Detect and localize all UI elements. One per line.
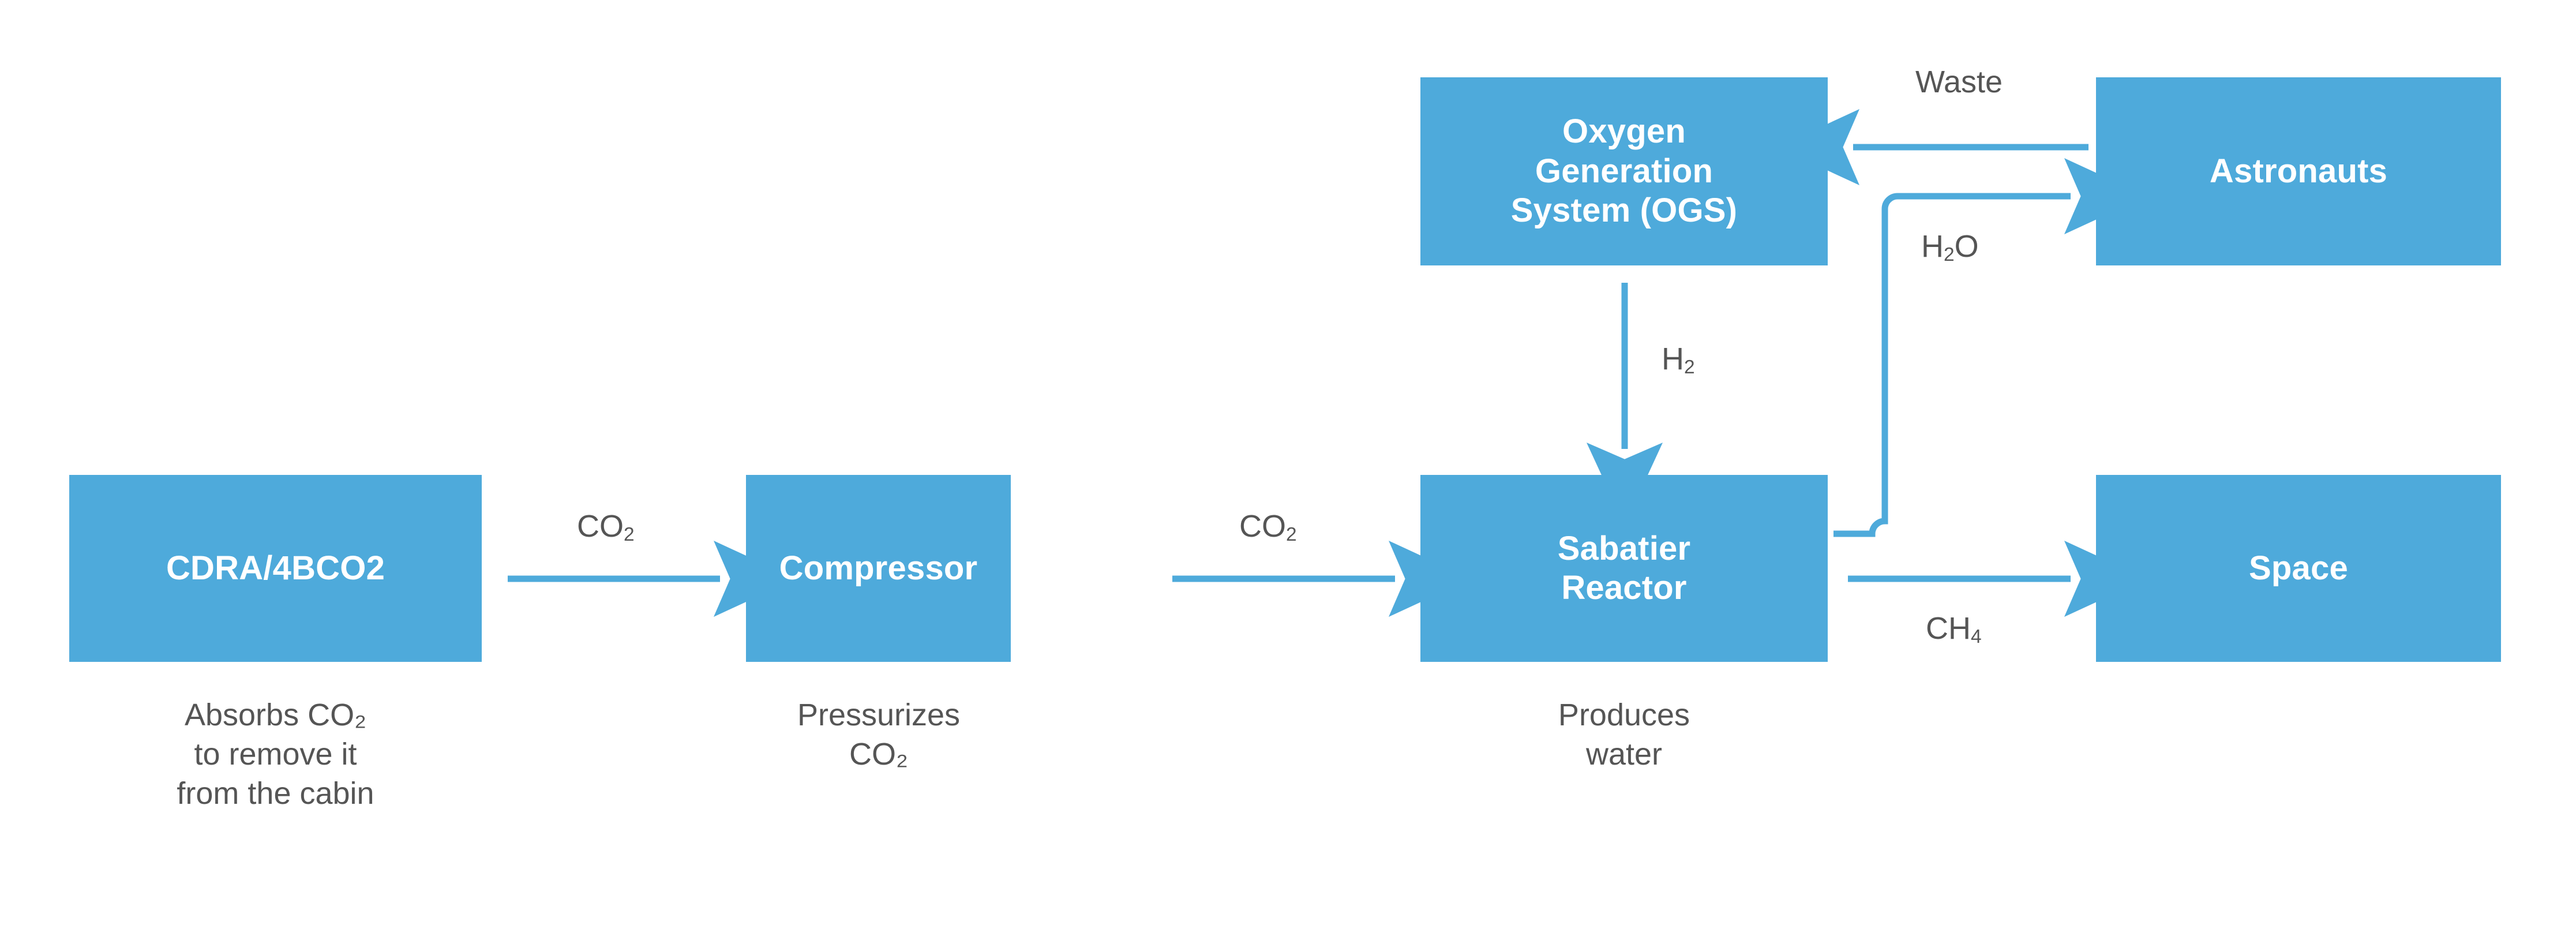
- node-compressor-label: Compressor: [779, 549, 978, 588]
- edge-label-h2o-sub: 2: [1944, 244, 1955, 265]
- node-compressor[interactable]: Compressor: [746, 475, 1011, 662]
- caption-sabatier-reactor: Produces water: [1425, 695, 1823, 774]
- edge-label-waste: Waste: [1915, 66, 2003, 98]
- node-cdra-label: CDRA/4BCO2: [166, 549, 385, 588]
- node-sabatier-reactor[interactable]: Sabatier Reactor: [1420, 475, 1828, 662]
- edge-label-h2o: H2O: [1921, 231, 1979, 262]
- node-astronauts[interactable]: Astronauts: [2096, 77, 2501, 265]
- edge-label-h2o-text: H: [1921, 229, 1944, 264]
- node-ogs-label: Oxygen Generation System (OGS): [1511, 112, 1737, 230]
- node-astronauts-label: Astronauts: [2210, 152, 2387, 191]
- edge-label-h2: H2: [1662, 343, 1695, 375]
- node-sabatier-label-line2: Reactor: [1561, 569, 1686, 606]
- node-cdra[interactable]: CDRA/4BCO2: [69, 475, 482, 662]
- edge-label-ch4-text: CH: [1926, 611, 1971, 646]
- node-ogs-label-line1: Oxygen: [1562, 113, 1686, 150]
- edge-label-h2o-tail: O: [1955, 229, 1979, 264]
- edge-label-co2-second-text: CO: [1239, 509, 1286, 544]
- node-sabatier-label: Sabatier Reactor: [1558, 529, 1691, 608]
- node-space-label: Space: [2249, 549, 2348, 588]
- edge-label-co2-second: CO2: [1239, 511, 1297, 542]
- caption-compressor: Pressurizes CO₂: [752, 695, 1006, 774]
- caption-cdra: Absorbs CO₂ to remove it from the cabin: [17, 695, 534, 813]
- edge-label-co2-second-sub: 2: [1286, 524, 1297, 545]
- edge-label-co2-first: CO2: [577, 511, 635, 542]
- node-space[interactable]: Space: [2096, 475, 2501, 662]
- edge-label-h2-text: H: [1662, 342, 1684, 376]
- node-oxygen-generation-system[interactable]: Oxygen Generation System (OGS): [1420, 77, 1828, 265]
- node-ogs-label-line2: Generation: [1535, 152, 1713, 190]
- edge-label-co2-first-text: CO: [577, 509, 624, 544]
- diagram-canvas: CDRA/4BCO2 Compressor Sabatier Reactor S…: [0, 0, 2576, 925]
- node-ogs-label-line3: System (OGS): [1511, 192, 1737, 229]
- node-sabatier-label-line1: Sabatier: [1558, 530, 1691, 567]
- edge-label-co2-first-sub: 2: [624, 524, 635, 545]
- edge-label-ch4-sub: 4: [1971, 626, 1982, 647]
- edge-label-h2-sub: 2: [1684, 357, 1695, 378]
- edge-label-ch4: CH4: [1926, 613, 1982, 644]
